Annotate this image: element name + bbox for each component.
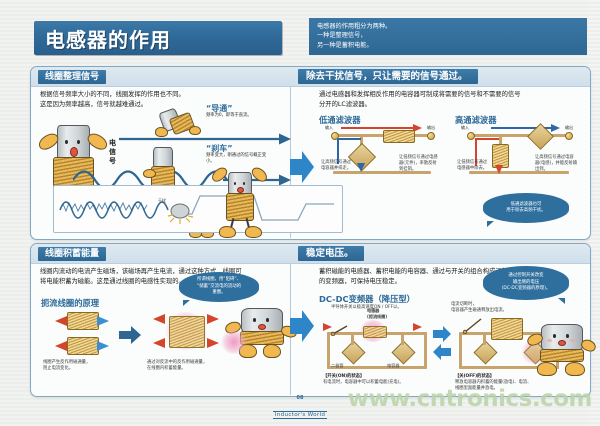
lowpass-note-right: 让低频信号通过电感 器(元件)，率散反射 到挂销。: [399, 155, 443, 174]
filter-right-body: 通过电感器和发挥相反作用的电容器可制成将需要的信号和不需要的信号 分开的LC滤波…: [319, 90, 587, 110]
choke-speech-bubble: 所谓线圈，用“阻碍”、 “储蓄”交流电的流动的 重圈。: [179, 272, 259, 302]
mascot-conv-shoe-r: [565, 362, 585, 376]
mascot-conv-eye-r: [566, 334, 569, 338]
mascot-eye-right: [77, 140, 80, 144]
noise-waveform: [58, 190, 338, 228]
choke-arrows-bottom: [45, 340, 117, 352]
choke-step-arrow: [119, 326, 141, 344]
choke-note-left: 线圈产生反作用磁通量， 阻止电流变化。: [43, 360, 101, 372]
converter-speech-bubble: 通过控制开关改变 输出侧的电压 (DC-DC变频器的原理)。: [483, 266, 569, 300]
mascot-brake-hand: [143, 169, 156, 178]
noise-crushed-icon: [166, 202, 196, 226]
dotted-rule-left-2: [130, 254, 295, 255]
choke-note-right: 通过对反流中的反作用磁通量， 在线圈内积蓄能量。: [147, 360, 215, 372]
section-header-voltage: 稳定电压。: [298, 246, 364, 261]
highpass-note-left: 让低频信号通过 电感器中除去。: [457, 160, 493, 172]
lowpass-out-label: 输出: [427, 125, 435, 131]
lowpass-shunt-top: [337, 138, 361, 140]
lowpass-top-wire: [333, 134, 431, 137]
conv-on-diode-stem: [351, 333, 354, 345]
highpass-out-label: 输出: [565, 125, 573, 131]
wave-dc: [119, 131, 291, 147]
highpass-shunt-top: [475, 138, 499, 140]
page-title: 电感器的作用: [34, 24, 171, 53]
panel-energy-storage: 线圈积蓄能量 稳定电压。 线圈内流动的电流产生磁场，该磁场再产生电流，通过这种方…: [30, 243, 591, 397]
noise-demo-box: 干扰: [53, 185, 343, 233]
section-tag-signal: 线圈整理信号: [38, 70, 106, 84]
converter-note-right: 电流切断时， 电容器产生磁通释放出电流。: [451, 302, 541, 314]
conv-on-right-rail: [424, 332, 427, 369]
choke-energised: [147, 306, 225, 360]
page-title-bar: 电感器的作用: [34, 21, 282, 55]
highpass-input-node: [467, 132, 475, 140]
dotted-rule-left: [130, 77, 295, 78]
intro-text: 电感器的作用粗分为两种。 一种是整理信号， 另一种是蓄积电能。: [317, 23, 391, 49]
lowpass-shunt-arrowhead: [357, 163, 365, 172]
converter-exchange-arrows: [433, 326, 451, 362]
state-desc-1: 频率变大，刚通过的信号概正变小。: [206, 153, 274, 165]
footer-book-title: Inductor's World: [273, 411, 327, 419]
conv-off-left-rail: [459, 332, 462, 369]
mascot-filter-shoe-l: [219, 226, 236, 238]
big-arrow-signal: [290, 151, 314, 183]
conv-on-cap-stem: [401, 333, 404, 345]
highpass-top-wire: [469, 134, 569, 137]
conv-part-inductor-label: 电感器 (扼流线圈): [367, 308, 401, 319]
section-header-filter: 除去干扰信号，只让需要的信号通过。: [298, 69, 478, 84]
panel-signal-conditioning: 线圈整理信号 除去干扰信号，只让需要的信号通过。 根据信号频率大小的不同，线圈发…: [30, 66, 591, 240]
choke-arrows-top: [45, 315, 117, 327]
mascot-conv-coil: [540, 349, 584, 362]
mascot-filter-shoe-r: [245, 226, 262, 238]
highpass-shunt-arrowhead: [495, 165, 503, 174]
mascot-choke: [229, 306, 295, 364]
lowpass-flow-arrow: [341, 127, 415, 129]
conv-on-current-arrows: [323, 322, 431, 332]
mascot-choke-mouth: [258, 324, 266, 330]
conv-off-switch-open: [463, 318, 485, 334]
mascot-filter: [203, 172, 275, 240]
mascot-conv-eye-l: [553, 334, 556, 338]
mascot-choke-eye-l: [253, 318, 256, 322]
lowpass-output-node: [427, 132, 435, 140]
intro-box: 电感器的作用粗分为两种。 一种是整理信号， 另一种是蓄积电能。: [309, 18, 587, 55]
conv-off-inductor: [491, 318, 523, 340]
highpass-in-label: 输入: [461, 125, 469, 131]
mascot-choke-shoe-r: [263, 344, 281, 358]
mascot-converter: [531, 320, 593, 380]
mascot-filter-coil: [226, 193, 254, 221]
big-arrow-energy: [290, 310, 314, 342]
mascot-conduct-hand: [189, 126, 201, 135]
choke-energised-arrows: [147, 306, 225, 360]
state-desc-0: 频率为0，即等于直流。: [206, 113, 278, 119]
highpass-note-right: 让高频信号通过电容 器(电感)，并能反射输 出到。: [535, 155, 581, 174]
noise-label: 干扰: [158, 198, 166, 204]
lowpass-in-label: 输入: [325, 125, 333, 131]
lowpass-inductor: [383, 130, 415, 143]
mascot-conduct-shoe: [155, 127, 168, 137]
signal-left-body: 根据信号频率大小的不同，线圈发挥的作用也不同。 这是因为频率越高，信号就越难通过…: [40, 90, 280, 110]
mascot-conduct: [149, 108, 199, 140]
conv-on-left-rail: [327, 332, 330, 369]
mascot-conv-mouth: [558, 340, 566, 346]
mascot-eye-left: [65, 140, 68, 144]
noise-speech-bubble: 低通滤波器也可 用于除去高频干扰。: [483, 193, 569, 223]
highpass-output-node: [565, 132, 573, 140]
mascot-choke-eye-r: [266, 318, 269, 322]
choke-title: 扼流线圈的原理: [41, 297, 99, 309]
mascot-conv-can: [541, 324, 583, 352]
conv-off-diode-stem: [483, 333, 486, 345]
mascot-conv-shoe-l: [537, 362, 557, 376]
site-watermark: www.cntronics.com: [348, 386, 592, 412]
choke-coil-pair: [45, 310, 117, 358]
converter-title: DC-DC变频器（降压型）: [319, 293, 415, 305]
signal-char-label: 电信号: [109, 139, 118, 166]
conv-part-diode-label: 二极管: [331, 363, 344, 369]
section-tag-energy: 线圈积蓄能量: [38, 247, 106, 261]
mascot-choke-glow: [221, 330, 247, 354]
mascot-mouth: [70, 147, 78, 157]
highpass-flow-arrowhead: [551, 124, 560, 132]
infographic-page: 电感器的作用 电感器的作用粗分为两种。 一种是整理信号， 另一种是蓄积电能。 线…: [0, 0, 600, 426]
conv-part-capacitor-label: 电容器: [387, 363, 400, 369]
lowpass-note-left: 让高频信号通过 电容器并排走。: [321, 160, 357, 172]
